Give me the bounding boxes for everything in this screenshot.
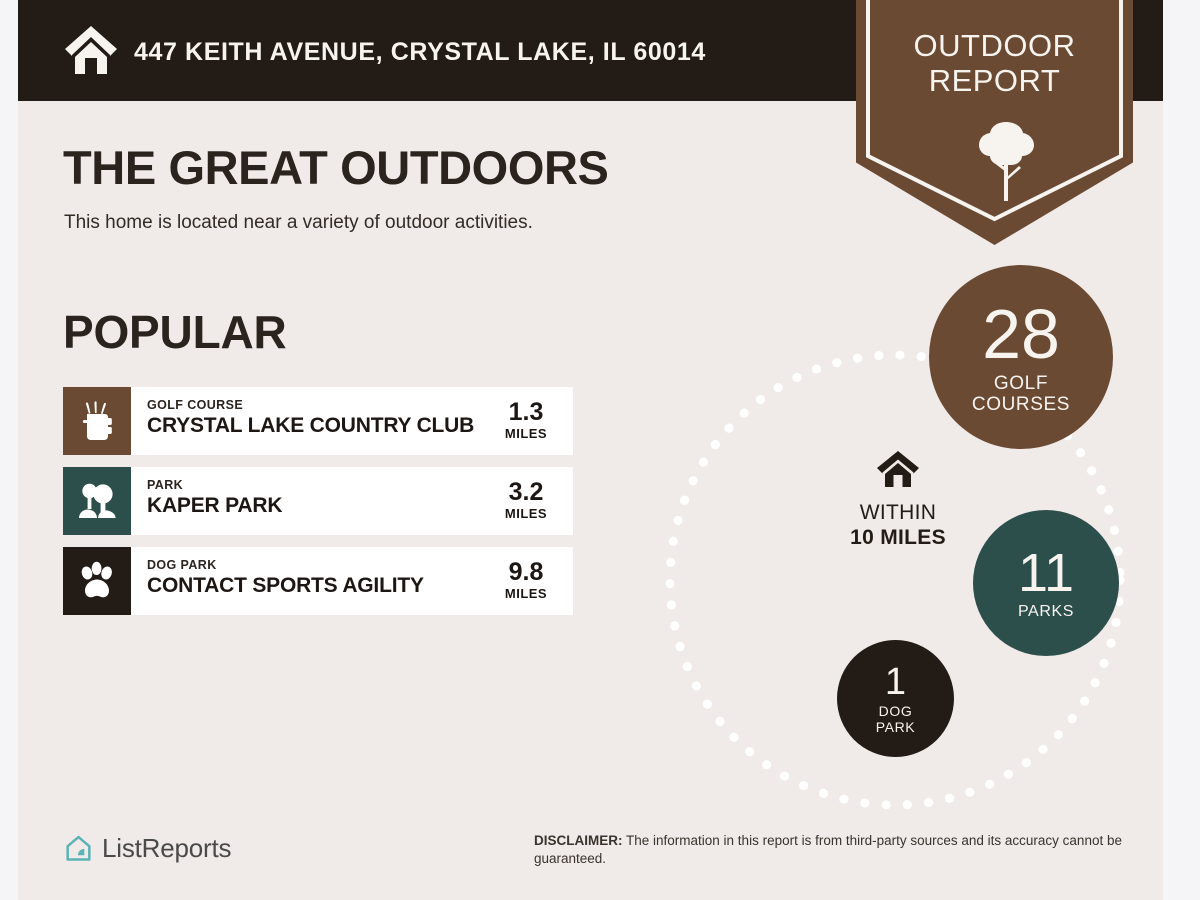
listreports-house-icon bbox=[64, 834, 93, 863]
list-item-category: PARK bbox=[147, 477, 487, 493]
home-icon bbox=[63, 24, 119, 76]
stat-value: 11 bbox=[1018, 546, 1074, 600]
list-item-distance-value: 1.3 bbox=[489, 399, 563, 426]
list-item-name: CRYSTAL LAKE COUNTRY CLUB bbox=[147, 413, 487, 438]
stat-label: DOG PARK bbox=[876, 703, 916, 735]
stat-bubble-parks[interactable]: 11 PARKS bbox=[973, 510, 1119, 656]
stat-label-line1: GOLF bbox=[994, 373, 1048, 394]
within-10-miles-diagram: 28 GOLF COURSES 11 PARKS 1 DOG PARK WITH… bbox=[618, 250, 1163, 810]
stat-value: 28 bbox=[982, 299, 1060, 369]
list-item-name: CONTACT SPORTS AGILITY bbox=[147, 573, 487, 598]
list-item-distance-unit: MILES bbox=[489, 426, 563, 441]
stat-bubble-golf-courses[interactable]: 28 GOLF COURSES bbox=[929, 265, 1113, 449]
list-item-text: GOLF COURSE CRYSTAL LAKE COUNTRY CLUB bbox=[147, 397, 487, 438]
stat-label: GOLF COURSES bbox=[972, 373, 1070, 415]
list-item[interactable]: GOLF COURSE CRYSTAL LAKE COUNTRY CLUB 1.… bbox=[63, 387, 573, 455]
list-item-distance-unit: MILES bbox=[489, 586, 563, 601]
stat-value: 1 bbox=[885, 663, 906, 701]
tree-icon bbox=[973, 120, 1039, 202]
popular-section-title: POPULAR bbox=[63, 305, 287, 359]
report-page: 447 KEITH AVENUE, CRYSTAL LAKE, IL 60014… bbox=[18, 0, 1163, 900]
list-item[interactable]: DOG PARK CONTACT SPORTS AGILITY 9.8 MILE… bbox=[63, 547, 573, 615]
list-item-distance: 3.2 MILES bbox=[489, 479, 563, 521]
golf-bag-icon-tile bbox=[63, 387, 131, 455]
list-item-text: PARK KAPER PARK bbox=[147, 477, 487, 518]
page-title: THE GREAT OUTDOORS bbox=[63, 140, 609, 195]
popular-list: GOLF COURSE CRYSTAL LAKE COUNTRY CLUB 1.… bbox=[63, 387, 573, 627]
badge-title-line2: REPORT bbox=[856, 63, 1133, 98]
stat-label: PARKS bbox=[1018, 603, 1074, 621]
home-icon bbox=[876, 450, 920, 488]
diagram-center-marker: WITHIN 10 MILES bbox=[813, 450, 983, 550]
stat-label-line1: DOG bbox=[879, 703, 913, 719]
golf-bag-icon bbox=[78, 401, 116, 441]
list-item-distance-value: 9.8 bbox=[489, 559, 563, 586]
paw-print-icon bbox=[77, 561, 117, 601]
stat-bubble-dog-parks[interactable]: 1 DOG PARK bbox=[837, 640, 954, 757]
center-marker-line2: 10 MILES bbox=[813, 525, 983, 550]
list-item-distance-unit: MILES bbox=[489, 506, 563, 521]
list-item-name: KAPER PARK bbox=[147, 493, 487, 518]
stat-label-line2: COURSES bbox=[972, 394, 1070, 415]
property-address: 447 KEITH AVENUE, CRYSTAL LAKE, IL 60014 bbox=[134, 38, 706, 67]
list-item-distance-value: 3.2 bbox=[489, 479, 563, 506]
listreports-logo[interactable]: ListReports bbox=[64, 833, 231, 864]
park-trees-icon-tile bbox=[63, 467, 131, 535]
park-trees-icon bbox=[76, 482, 118, 520]
paw-print-icon-tile bbox=[63, 547, 131, 615]
stat-label-line2: PARK bbox=[876, 719, 916, 735]
list-item-category: DOG PARK bbox=[147, 557, 487, 573]
center-marker-line1: WITHIN bbox=[813, 501, 983, 525]
list-item-distance: 9.8 MILES bbox=[489, 559, 563, 601]
badge-title-line1: OUTDOOR bbox=[856, 28, 1133, 63]
disclaimer-label: DISCLAIMER: bbox=[534, 833, 623, 848]
disclaimer-text: The information in this report is from t… bbox=[534, 833, 1122, 866]
listreports-logo-text: ListReports bbox=[102, 833, 231, 864]
page-subtitle: This home is located near a variety of o… bbox=[64, 212, 533, 234]
list-item-text: DOG PARK CONTACT SPORTS AGILITY bbox=[147, 557, 487, 598]
list-item-category: GOLF COURSE bbox=[147, 397, 487, 413]
disclaimer: DISCLAIMER: The information in this repo… bbox=[534, 832, 1148, 868]
list-item-distance: 1.3 MILES bbox=[489, 399, 563, 441]
badge-title: OUTDOOR REPORT bbox=[856, 28, 1133, 98]
list-item[interactable]: PARK KAPER PARK 3.2 MILES bbox=[63, 467, 573, 535]
